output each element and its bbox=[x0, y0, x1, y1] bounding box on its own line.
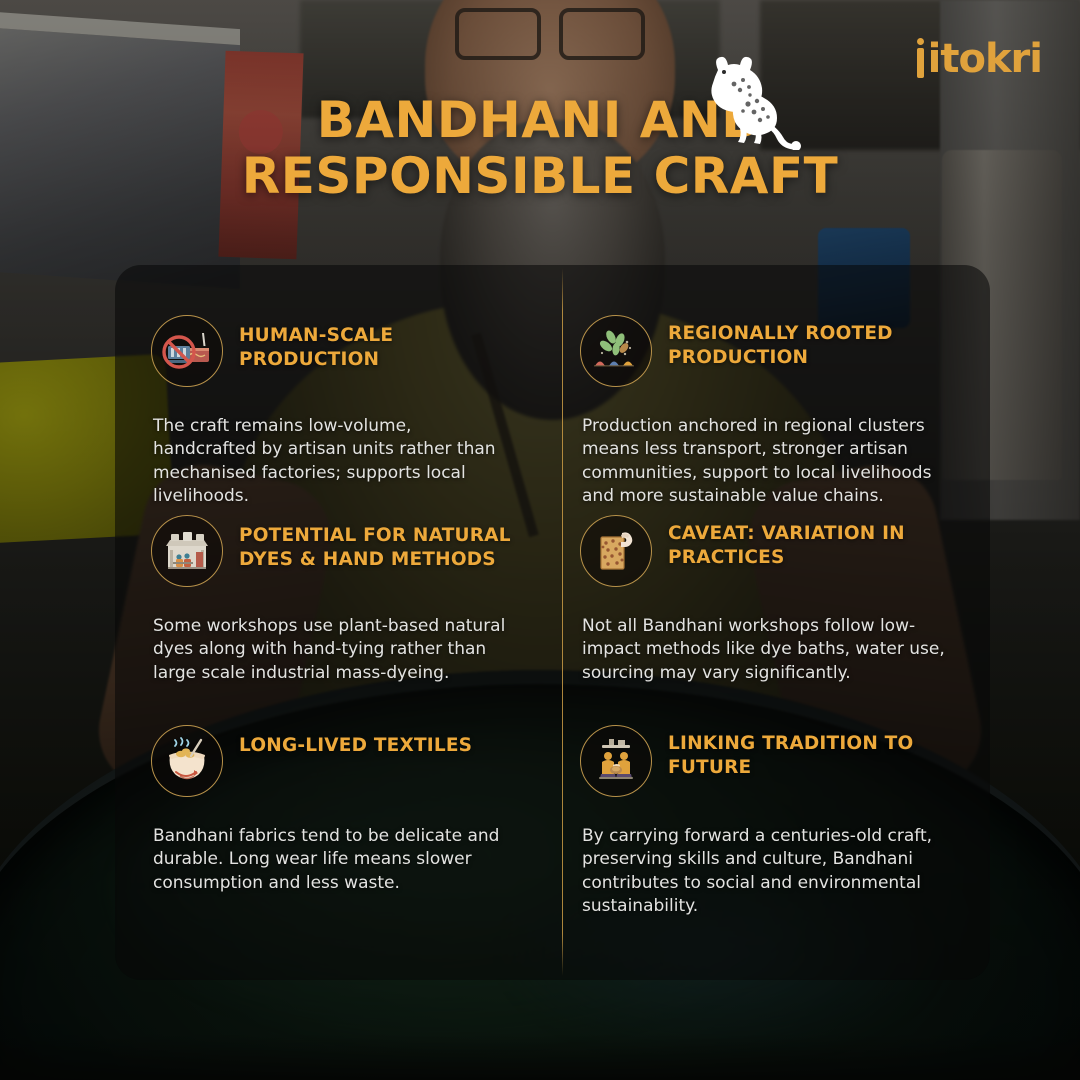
card-title: POTENTIAL FOR NATURAL DYES & HAND METHOD… bbox=[239, 515, 516, 571]
card-title: LINKING TRADITION TO FUTURE bbox=[668, 725, 950, 779]
card-header: CAVEAT: VARIATION IN PRACTICES bbox=[580, 515, 950, 587]
card-title: CAVEAT: VARIATION IN PRACTICES bbox=[668, 515, 950, 569]
card-body: Bandhani fabrics tend to be delicate and… bbox=[153, 825, 516, 895]
card-long-lived-textiles: LONG-LIVED TEXTILES Bandhani fabrics ten… bbox=[115, 675, 562, 980]
brand-logo[interactable]: itokri bbox=[914, 38, 1042, 80]
card-header: LINKING TRADITION TO FUTURE bbox=[580, 725, 950, 797]
card-header: POTENTIAL FOR NATURAL DYES & HAND METHOD… bbox=[151, 515, 516, 587]
card-human-scale-production: HUMAN-SCALE PRODUCTION The craft remains… bbox=[115, 265, 562, 465]
card-linking-tradition-future: LINKING TRADITION TO FUTURE By carrying … bbox=[562, 675, 990, 980]
cards-grid: HUMAN-SCALE PRODUCTION The craft remains… bbox=[115, 265, 990, 980]
card-potential-natural-dyes: POTENTIAL FOR NATURAL DYES & HAND METHOD… bbox=[115, 465, 562, 675]
infographic-stage: itokri BANDHANI AND RESPONSIBLE CRAFT bbox=[0, 0, 1080, 1080]
header: itokri BANDHANI AND RESPONSIBLE CRAFT bbox=[0, 0, 1080, 262]
card-header: REGIONALLY ROOTED PRODUCTION bbox=[580, 315, 950, 387]
two-artisans-working-icon bbox=[580, 725, 652, 797]
hand-holding-patterned-fabric-icon bbox=[580, 515, 652, 587]
artisan-workshop-building-icon bbox=[151, 515, 223, 587]
card-body: By carrying forward a centuries-old craf… bbox=[582, 825, 950, 919]
card-title: LONG-LIVED TEXTILES bbox=[239, 725, 472, 758]
title-line-2: RESPONSIBLE CRAFT bbox=[0, 148, 1080, 204]
brand-name: itokri bbox=[928, 39, 1042, 79]
card-regionally-rooted-production: REGIONALLY ROOTED PRODUCTION Production … bbox=[562, 265, 990, 465]
card-title: HUMAN-SCALE PRODUCTION bbox=[239, 315, 516, 371]
card-caveat-variation-practices: CAVEAT: VARIATION IN PRACTICES Not all B… bbox=[562, 465, 990, 675]
card-header: LONG-LIVED TEXTILES bbox=[151, 725, 516, 797]
leaves-and-dye-powders-icon bbox=[580, 315, 652, 387]
card-title: REGIONALLY ROOTED PRODUCTION bbox=[668, 315, 950, 369]
title-line-1: BANDHANI AND bbox=[0, 92, 1080, 148]
itokri-logo-mark bbox=[914, 38, 928, 80]
no-factory-machine-icon bbox=[151, 315, 223, 387]
page-title: BANDHANI AND RESPONSIBLE CRAFT bbox=[0, 92, 1080, 204]
card-header: HUMAN-SCALE PRODUCTION bbox=[151, 315, 516, 387]
steaming-dye-pot-icon bbox=[151, 725, 223, 797]
